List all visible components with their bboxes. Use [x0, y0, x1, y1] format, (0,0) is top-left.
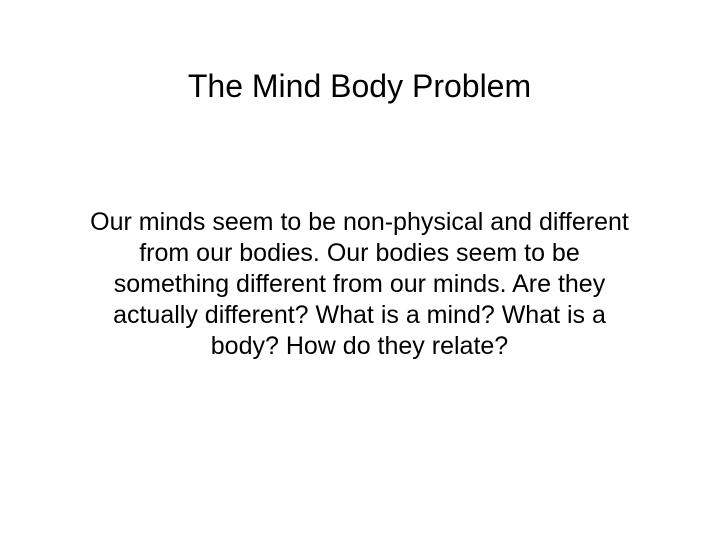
slide-body-text: Our minds seem to be non-physical and di… — [24, 207, 695, 362]
body-line: something different from our minds. Are … — [24, 269, 695, 300]
slide-canvas: The Mind Body Problem Our minds seem to … — [0, 0, 719, 539]
body-line: Our minds seem to be non-physical and di… — [24, 207, 695, 238]
page-title: The Mind Body Problem — [0, 66, 719, 106]
body-line: from our bodies. Our bodies seem to be — [24, 238, 695, 269]
body-line: actually different? What is a mind? What… — [24, 300, 695, 331]
body-line: body? How do they relate? — [24, 331, 695, 362]
